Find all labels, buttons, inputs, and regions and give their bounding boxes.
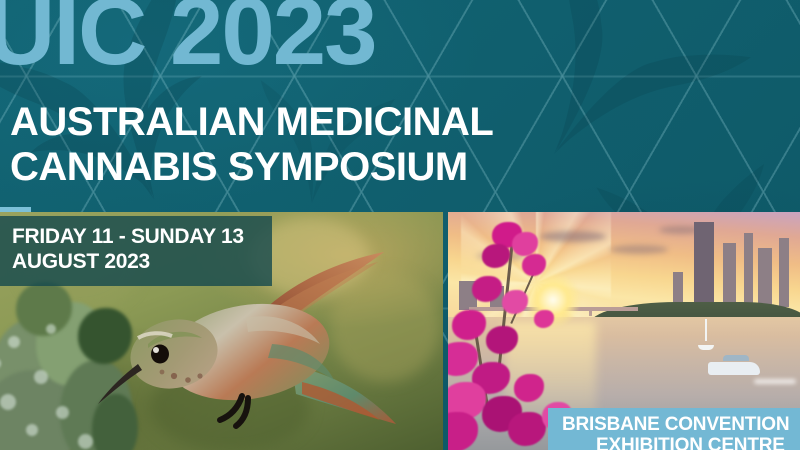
ferry-boat	[708, 362, 760, 375]
event-venue-band: BRISBANE CONVENTION EXHIBITION CENTRE	[548, 408, 800, 450]
event-subtitle-line2: CANNABIS SYMPOSIUM	[10, 145, 493, 190]
event-date-line1: FRIDAY 11 - SUNDAY 13	[12, 225, 260, 250]
boat-wake	[754, 379, 796, 384]
tower-building	[694, 222, 714, 308]
sailboat-mast	[705, 319, 707, 341]
event-date-line2: AUGUST 2023	[12, 250, 260, 275]
event-venue-line2: EXHIBITION CENTRE	[562, 435, 800, 450]
page-title: UIC 2023	[0, 0, 376, 80]
event-subtitle: AUSTRALIAN MEDICINAL CANNABIS SYMPOSIUM	[10, 100, 493, 190]
event-venue-line1: BRISBANE CONVENTION	[562, 414, 800, 435]
event-promo-banner: UIC 2023 AUSTRALIAN MEDICINAL CANNABIS S…	[0, 0, 800, 450]
event-subtitle-line1: AUSTRALIAN MEDICINAL	[10, 100, 493, 144]
event-date-band: FRIDAY 11 - SUNDAY 13 AUGUST 2023	[0, 216, 272, 286]
